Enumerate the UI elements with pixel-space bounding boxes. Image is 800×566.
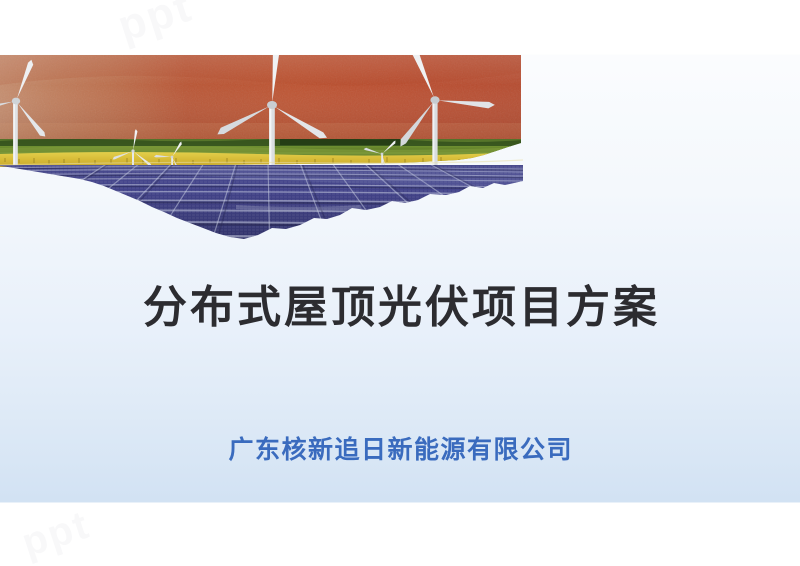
company-name: 广东核新追日新能源有限公司 xyxy=(0,435,800,465)
sky-layer xyxy=(0,55,521,141)
title-container: 分布式屋顶光伏项目方案 xyxy=(0,283,800,332)
subtitle-container: 广东核新追日新能源有限公司 xyxy=(0,435,800,465)
title-slide: ppt ppt xyxy=(0,0,800,566)
solar-panel-array xyxy=(0,160,523,260)
hero-image xyxy=(0,55,523,260)
field-layer xyxy=(0,136,523,169)
page-title: 分布式屋顶光伏项目方案 xyxy=(0,283,800,332)
